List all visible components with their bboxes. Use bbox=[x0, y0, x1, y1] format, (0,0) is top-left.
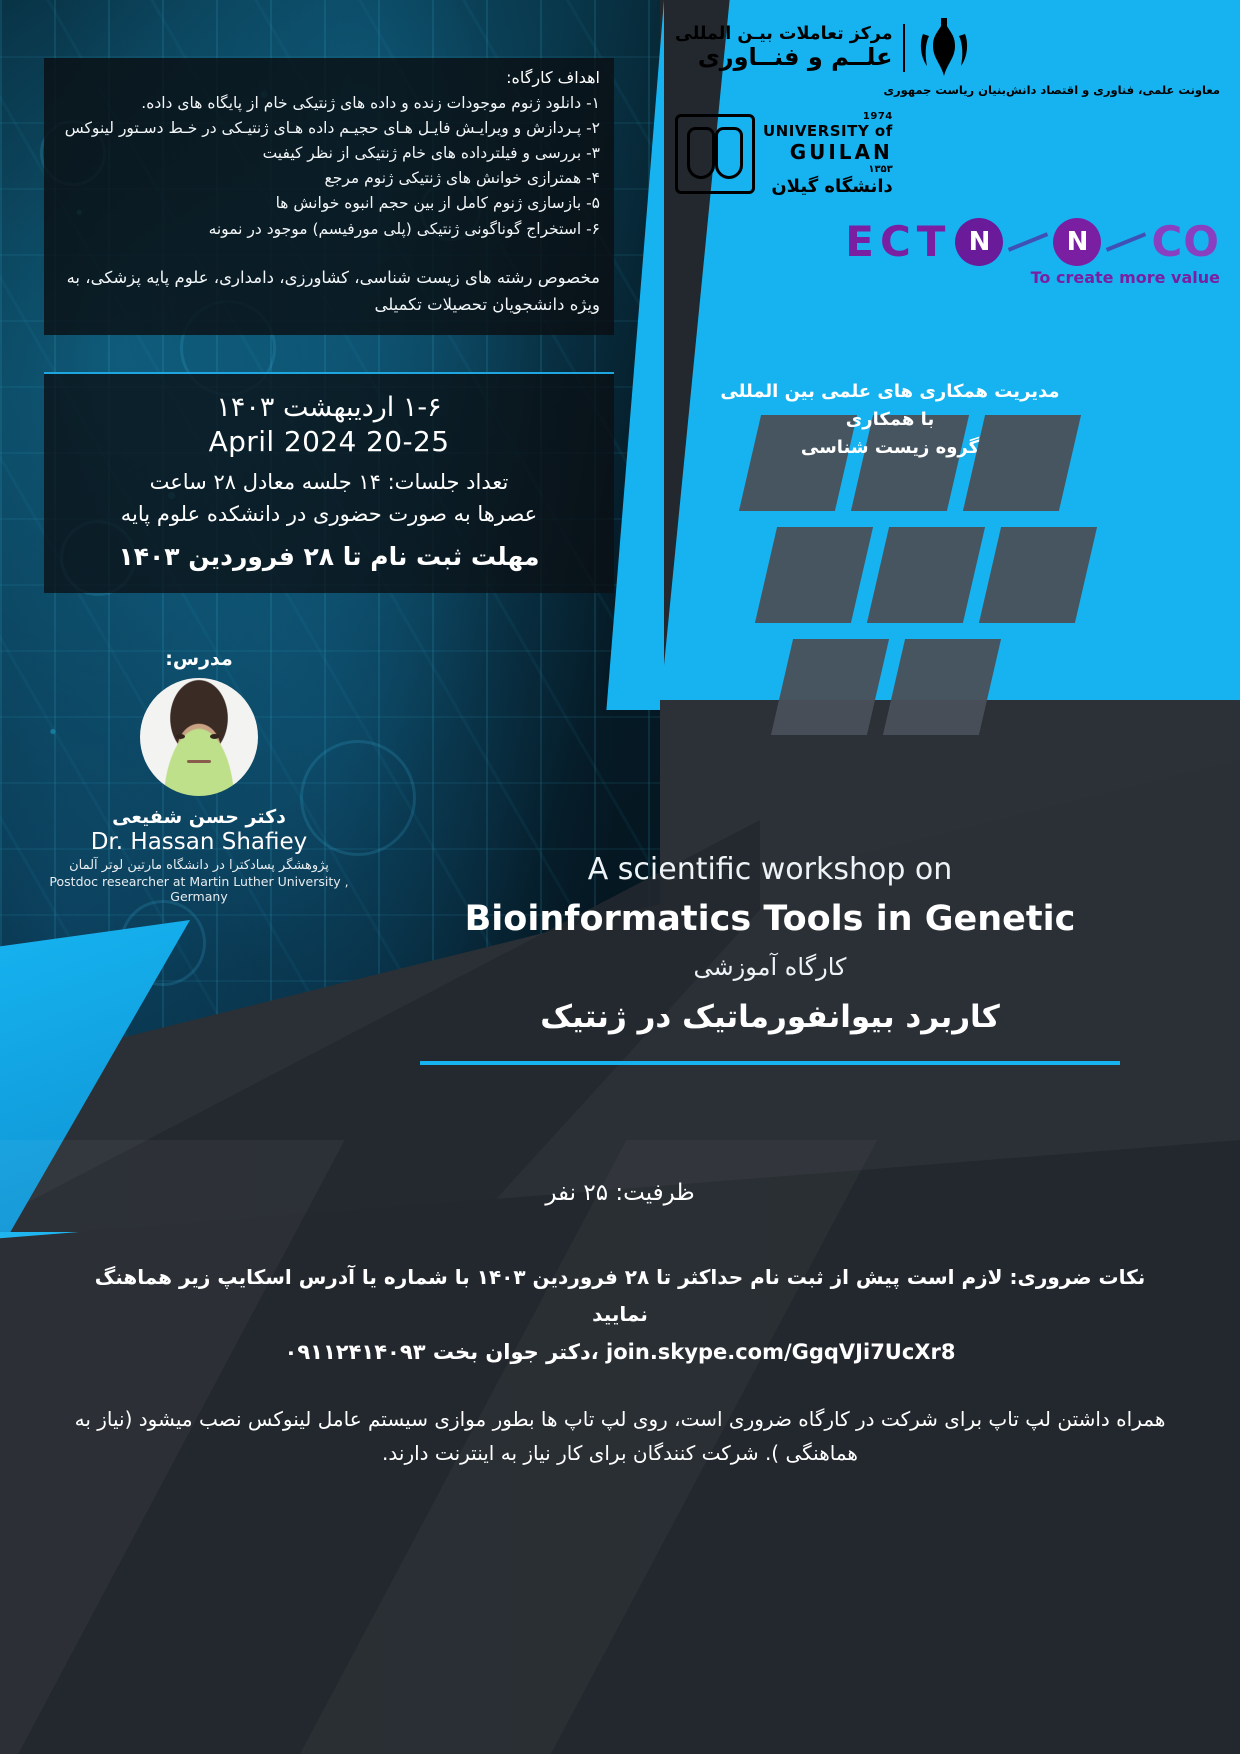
isti-logo: مرکز تعاملات بیـن المللی علــم و فنــاور… bbox=[675, 18, 1220, 78]
date-persian: ۱-۶ اردیبهشت ۱۴۰۳ bbox=[60, 392, 598, 423]
organizer-line-2: با همکاری bbox=[710, 406, 1070, 434]
objectives-title: اهداف کارگاه: bbox=[58, 68, 600, 87]
guilan-logo: 1974 UNIVERSITY of GUILAN ۱۳۵۳ دانشگاه گ… bbox=[675, 111, 1220, 197]
title-english-main: Bioinformatics Tools in Genetic bbox=[330, 899, 1210, 939]
session-count: تعداد جلسات: ۱۴ جلسه معادل ۲۸ ساعت bbox=[60, 470, 598, 494]
instructor-name-english: Dr. Hassan Shafiey bbox=[24, 829, 374, 855]
molecule-atom-icon-1: N bbox=[1053, 218, 1101, 266]
objective-item: ۵- بازسازی ژنوم کامل از بین حجم انبوه خو… bbox=[58, 191, 600, 216]
title-block: A scientific workshop on Bioinformatics … bbox=[330, 852, 1210, 1065]
instructor-block: مدرس: دکتر حسن شفیعی Dr. Hassan Shafiey … bbox=[24, 648, 374, 904]
objective-item: ۱- دانلود ژنوم موجودات زنده و داده های ژ… bbox=[58, 91, 600, 116]
molecule-bond-icon bbox=[1008, 232, 1048, 251]
guilan-name-persian: دانشگاه گیلان bbox=[763, 176, 893, 197]
schedule-box: ۱-۶ اردیبهشت ۱۴۰۳ 20-25 April 2024 تعداد… bbox=[44, 372, 614, 593]
objective-item: ۳- بررسی و فیلترداده های خام ژنتیکی از ن… bbox=[58, 141, 600, 166]
logo-stack: مرکز تعاملات بیـن المللی علــم و فنــاور… bbox=[675, 18, 1220, 303]
isti-line2: علــم و فنــاوری bbox=[675, 44, 893, 72]
connect-text-co: CO bbox=[1151, 217, 1220, 266]
guilan-crest-icon bbox=[675, 114, 755, 194]
contact-info[interactable]: join.skype.com/GgqVJi7UcXr8 ،دکتر جوان ب… bbox=[40, 1340, 1200, 1364]
avatar-eye-left bbox=[176, 734, 185, 739]
objectives-box: اهداف کارگاه: ۱- دانلود ژنوم موجودات زند… bbox=[44, 58, 614, 335]
objectives-list: ۱- دانلود ژنوم موجودات زنده و داده های ژ… bbox=[58, 91, 600, 242]
notes-line-2: نمایید bbox=[40, 1299, 1200, 1330]
isti-subtitle: معاونت علمی، فناوری و اقتصاد دانش‌بنیان … bbox=[675, 83, 1220, 97]
guilan-founding-year-persian: ۱۳۵۳ bbox=[763, 164, 893, 175]
title-divider bbox=[420, 1061, 1120, 1065]
iran-emblem-icon bbox=[915, 18, 973, 78]
molecule-atom-icon-2: N bbox=[955, 218, 1003, 266]
instructor-avatar bbox=[140, 678, 258, 796]
avatar-eye-right bbox=[210, 734, 219, 739]
footer-notes: نکات ضروری: لازم است پیش از ثبت نام حداک… bbox=[40, 1262, 1200, 1470]
objective-item: ۲- پـردازش و ویرایـش فایـل هـای حجیـم دا… bbox=[58, 116, 600, 141]
guilan-university-label: UNIVERSITY of bbox=[763, 122, 893, 140]
organizer-line-3: گروه زیست شناسی bbox=[710, 434, 1070, 462]
instructor-affiliation-persian: پژوهشگر پسادکترا در دانشگاه مارتین لوتر … bbox=[24, 858, 374, 873]
objective-item: ۶- استخراج گوناگونی ژنتیکی (پلی مورفیسم)… bbox=[58, 217, 600, 242]
notes-line-1: نکات ضروری: لازم است پیش از ثبت نام حداک… bbox=[40, 1262, 1200, 1293]
grey-squares-decoration bbox=[750, 415, 1180, 745]
date-gregorian: 20-25 April 2024 bbox=[60, 425, 598, 458]
avatar-mouth bbox=[187, 760, 211, 763]
isti-wordmark: مرکز تعاملات بیـن المللی علــم و فنــاور… bbox=[675, 24, 905, 72]
molecule-bond-icon bbox=[1106, 232, 1146, 251]
guilan-wordmark: 1974 UNIVERSITY of GUILAN ۱۳۵۳ دانشگاه گ… bbox=[763, 111, 893, 197]
organizer-line-1: مدیریت همکاری های علمی بین المللی bbox=[710, 378, 1070, 406]
objectives-audience-note: مخصوص رشته های زیست شناسی، کشاورزی، دامد… bbox=[58, 264, 600, 319]
poster-root: اهداف کارگاه: ۱- دانلود ژنوم موجودات زند… bbox=[0, 0, 1240, 1754]
objective-item: ۴- همترازی خوانش های ژنتیکی ژنوم مرجع bbox=[58, 166, 600, 191]
guilan-founding-year: 1974 bbox=[763, 111, 893, 122]
requirements-paragraph: همراه داشتن لپ تاپ برای شرکت در کارگاه ض… bbox=[40, 1402, 1200, 1470]
isti-line1: مرکز تعاملات بیـن المللی bbox=[675, 24, 893, 44]
organizers-block: مدیریت همکاری های علمی بین المللی با همک… bbox=[710, 378, 1070, 462]
instructor-name-persian: دکتر حسن شفیعی bbox=[24, 806, 374, 828]
connect-wordmark-row: CO N N ECT bbox=[675, 217, 1220, 266]
guilan-name: GUILAN bbox=[763, 140, 893, 164]
instructor-affiliation-english: Postdoc researcher at Martin Luther Univ… bbox=[24, 874, 374, 904]
title-persian-main: کاربرد بیوانفورماتیک در ژنتیک bbox=[330, 999, 1210, 1035]
instructor-label: مدرس: bbox=[24, 648, 374, 670]
connect-tagline: To create more value bbox=[675, 268, 1220, 287]
title-persian-subtitle: کارگاه آموزشی bbox=[330, 953, 1210, 981]
session-location: عصرها به صورت حضوری در دانشکده علوم پایه bbox=[60, 502, 598, 526]
title-english-subtitle: A scientific workshop on bbox=[330, 852, 1210, 887]
capacity-text: ظرفیت: ۲۵ نفر bbox=[0, 1180, 1240, 1206]
connect-logo: CO N N ECT To create more value bbox=[675, 217, 1220, 303]
connect-text-ect: ECT bbox=[845, 217, 951, 266]
registration-deadline: مهلت ثبت نام تا ۲۸ فروردین ۱۴۰۳ bbox=[60, 542, 598, 571]
